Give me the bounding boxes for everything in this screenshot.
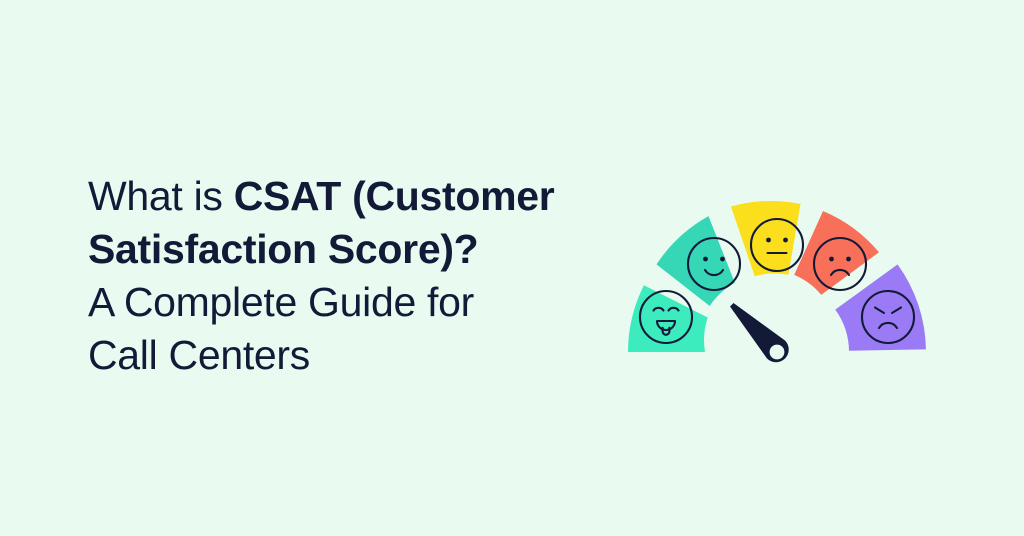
gauge-segments xyxy=(628,201,926,352)
gauge-svg xyxy=(617,192,937,377)
headline-line-2: Satisfaction Score)? xyxy=(88,223,648,276)
gauge-segment-dissatisfied[interactable] xyxy=(794,211,879,295)
csat-banner: What is CSAT (Customer Satisfaction Scor… xyxy=(0,0,1024,536)
gauge-segment-neutral[interactable] xyxy=(731,201,801,276)
headline-line-3: A Complete Guide for xyxy=(88,276,648,329)
headline-line-1-bold: CSAT (Customer xyxy=(234,173,555,219)
headline-line-4: Call Centers xyxy=(88,329,648,382)
needle-hub xyxy=(770,345,785,360)
headline-line-1: What is CSAT (Customer xyxy=(88,170,648,223)
gauge-needle[interactable] xyxy=(730,303,789,362)
csat-gauge xyxy=(617,192,937,377)
headline-line-1-regular: What is xyxy=(88,173,234,219)
page-title: What is CSAT (Customer Satisfaction Scor… xyxy=(88,170,648,382)
